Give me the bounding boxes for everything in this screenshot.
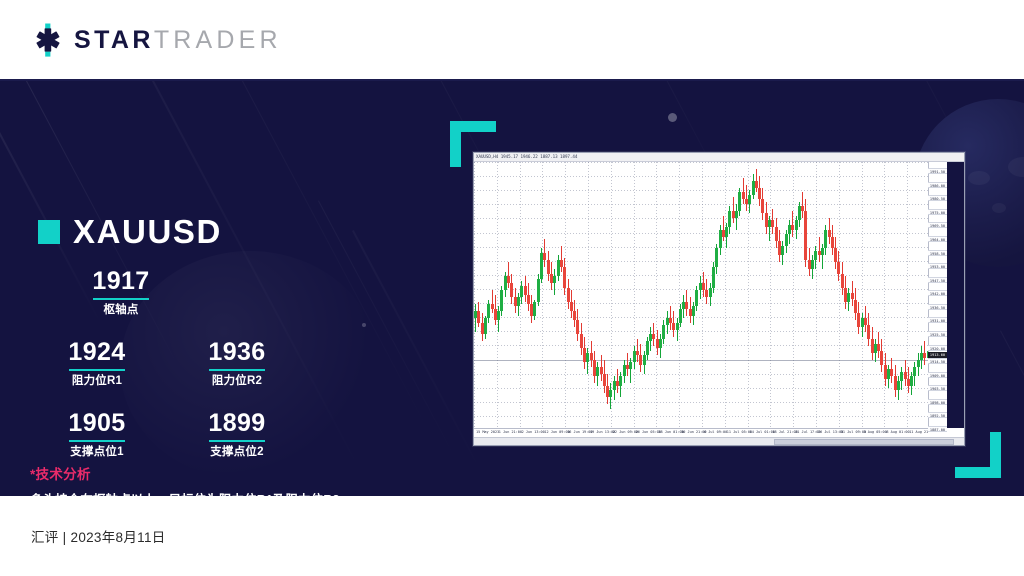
price-tick-label: 1914.50: [928, 358, 947, 364]
price-tick-label: 1947.50: [928, 277, 947, 283]
price-tick-label: 1903.50: [928, 385, 947, 391]
time-tick-label: 21 Jul 17:00: [795, 428, 820, 436]
chart-plot-area[interactable]: [474, 162, 928, 428]
square-bullet-icon: [38, 220, 60, 244]
level-underline: [209, 369, 265, 371]
time-tick-label: 26 Jun 05:00: [636, 428, 661, 436]
price-tick-label: 1936.50: [928, 304, 947, 310]
brand-name-light: TRADER: [154, 26, 282, 54]
level-value: 1936: [178, 340, 296, 366]
level-s2: 1899 支撑点位2: [178, 411, 296, 458]
level-label: 支撑点位2: [178, 446, 296, 459]
pivot-row: 1917 枢轴点: [38, 269, 368, 330]
level-underline: [69, 440, 125, 442]
candlestick-series: [474, 162, 928, 428]
level-s1: 1905 支撑点位1: [38, 411, 156, 458]
price-tick-label: 1969.50: [928, 222, 947, 228]
price-tick-label: 1887.00: [928, 426, 947, 432]
time-tick-label: 12 Jun 09:00: [544, 428, 569, 436]
page-footer: 汇评 | 2023年8月11日: [0, 496, 1024, 576]
time-tick-label: 16 Jun 19:00: [567, 428, 592, 436]
time-tick-label: 11 Aug 21:00: [909, 428, 928, 436]
horizontal-scrollbar[interactable]: [474, 437, 964, 445]
level-label: 支撑点位1: [38, 446, 156, 459]
level-label: 阻力位R2: [178, 375, 296, 388]
time-tick-label: 8 Aug 01:00: [886, 428, 909, 436]
level-value: 1899: [178, 411, 296, 437]
price-tick-label: 1986.00: [928, 182, 947, 188]
analysis-heading: *技术分析: [30, 467, 430, 483]
chart-title-text: XAUUSD,H4 1945.17 1946.22 1887.13 1897.4…: [476, 155, 577, 159]
price-tick-label: 1958.50: [928, 250, 947, 256]
time-tick-label: 18 Jul 21:00: [772, 428, 797, 436]
symbol-title-row: XAUUSD: [38, 215, 222, 248]
price-tick-label: 1925.50: [928, 331, 947, 337]
current-price-label: 1913.60: [928, 352, 947, 358]
level-r1: 1924 阻力位R1: [38, 340, 156, 387]
footer-caption: 汇评 | 2023年8月11日: [31, 526, 166, 546]
time-tick-label: 30 Jun 21:00: [681, 428, 706, 436]
level-underline: [69, 369, 125, 371]
axis-outer-strip: [947, 162, 964, 428]
time-tick-label: 28 Jun 01:00: [658, 428, 683, 436]
price-tick-label: 1931.00: [928, 317, 947, 323]
price-tick-label: 1892.50: [928, 412, 947, 418]
resistance-row: 1924 阻力位R1 1936 阻力位R2: [38, 340, 368, 401]
level-value: 1917: [62, 269, 180, 295]
pivot-levels: 1917 枢轴点 1924 阻力位R1 1936 阻力位R2 1905 支撑点位…: [38, 269, 368, 472]
technical-analysis: *技术分析 多头持仓在枢轴点以上，目标位为阻力位R1及阻力位R2。 若低于枢轴点…: [30, 467, 430, 496]
time-axis[interactable]: 15 May 20231 Jun 21:002 Jun 13:0012 Jun …: [474, 428, 928, 436]
price-tick-label: 1953.00: [928, 263, 947, 269]
level-label: 枢轴点: [62, 304, 180, 317]
brand-name-bold: STAR: [74, 26, 154, 54]
page-header: STARTRADER: [0, 0, 1024, 80]
price-tick-label: 1980.50: [928, 195, 947, 201]
level-r2: 1936 阻力位R2: [178, 340, 296, 387]
time-tick-label: 19 Jun 13:00: [590, 428, 615, 436]
time-tick-label: 11 Jul 05:00: [727, 428, 752, 436]
asterisk-star-icon: [31, 23, 65, 57]
chart-title-bar: XAUUSD,H4 1945.17 1946.22 1887.13 1897.4…: [474, 153, 964, 162]
mt-chart-window[interactable]: XAUUSD,H4 1945.17 1946.22 1887.13 1897.4…: [473, 152, 965, 446]
price-tick-label: 1975.00: [928, 209, 947, 215]
price-axis[interactable]: 1991.501986.001980.501975.001969.501964.…: [928, 162, 947, 428]
price-tick-label: 1964.00: [928, 236, 947, 242]
hero-stage: XAUUSD 1917 枢轴点 1924 阻力位R1 1936 阻力位R2: [0, 81, 1024, 496]
time-tick-label: 31 Jul 09:00: [841, 428, 866, 436]
time-tick-label: 22 Jun 09:00: [613, 428, 638, 436]
price-tick-label: 1909.00: [928, 372, 947, 378]
price-tick-label: 1898.00: [928, 399, 947, 405]
price-tick-label: 1942.00: [928, 290, 947, 296]
time-tick-label: 14 Jul 01:00: [750, 428, 775, 436]
level-value: 1905: [38, 411, 156, 437]
page-title: XAUUSD: [73, 215, 222, 248]
price-tick-label: 1991.50: [928, 168, 947, 174]
level-underline: [93, 298, 149, 300]
time-tick-label: 1 Jun 21:00: [499, 428, 522, 436]
time-tick-label: 2 Jun 13:00: [522, 428, 545, 436]
brand-logo[interactable]: STARTRADER: [31, 23, 282, 57]
brand-wordmark: STARTRADER: [74, 28, 282, 53]
level-pivot: 1917 枢轴点: [62, 269, 180, 316]
level-label: 阻力位R1: [38, 375, 156, 388]
time-tick-label: 3 Aug 05:00: [864, 428, 887, 436]
time-tick-label: 15 May 2023: [476, 428, 499, 436]
time-tick-label: 26 Jul 13:00: [818, 428, 843, 436]
price-tick-label: 1920.00: [928, 345, 947, 351]
level-value: 1924: [38, 340, 156, 366]
support-row: 1905 支撑点位1 1899 支撑点位2: [38, 411, 368, 472]
level-underline: [209, 440, 265, 442]
time-tick-label: 6 Jul 09:00: [704, 428, 727, 436]
scrollbar-thumb[interactable]: [774, 439, 954, 445]
